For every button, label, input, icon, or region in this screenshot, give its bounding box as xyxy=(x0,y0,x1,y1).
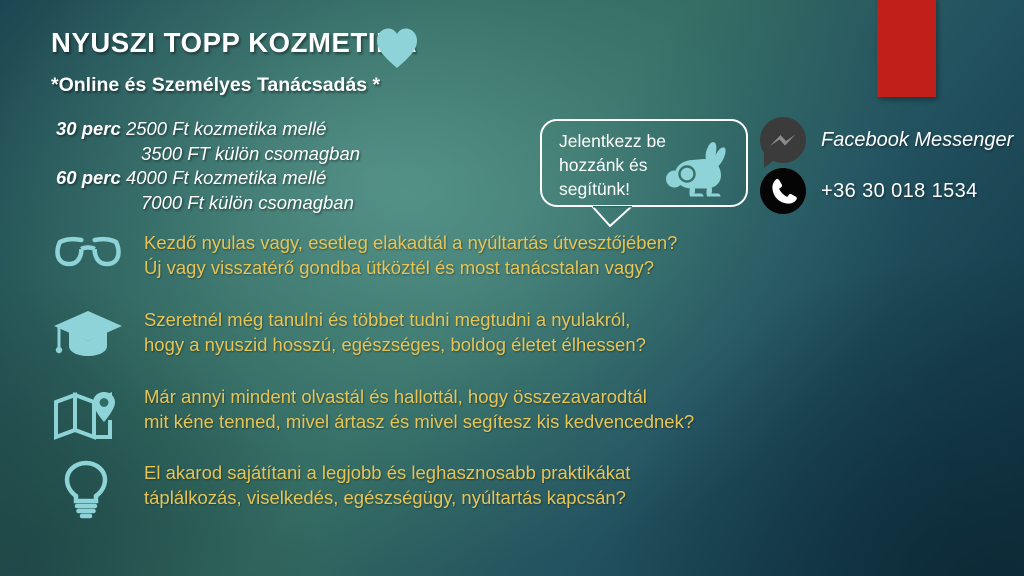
callout-tail xyxy=(592,206,650,228)
list-item-text: El akarod sajátítani a legjobb és leghas… xyxy=(144,460,630,510)
price-duration: 60 perc xyxy=(56,167,121,188)
list-item: El akarod sajátítani a legjobb és leghas… xyxy=(52,458,992,520)
contact-label: +36 30 018 1534 xyxy=(821,180,978,203)
price-list: 30 perc 2500 Ft kozmetika mellé 3500 FT … xyxy=(56,117,360,215)
price-row: 60 perc 4000 Ft kozmetika mellé xyxy=(56,166,360,191)
red-accent-block xyxy=(877,0,936,97)
contact-messenger[interactable]: Facebook Messenger xyxy=(760,117,1013,163)
price-primary: 2500 Ft kozmetika mellé xyxy=(126,118,327,139)
map-pin-icon xyxy=(52,382,124,444)
contact-phone[interactable]: +36 30 018 1534 xyxy=(760,168,978,214)
list-item-line: Új vagy visszatérő gondba ütköztél és mo… xyxy=(144,255,677,280)
callout-line: Jelentkezz be xyxy=(559,129,666,153)
list-item-text: Már annyi mindent olvastál és hallottál,… xyxy=(144,384,694,434)
callout-line: segítünk! xyxy=(559,177,666,201)
callout-text: Jelentkezz be hozzánk és segítünk! xyxy=(559,129,666,201)
price-duration: 30 perc xyxy=(56,118,121,139)
list-item-line: mit kéne tenned, mivel ártasz és mivel s… xyxy=(144,409,694,434)
price-secondary: 3500 FT külön csomagban xyxy=(56,142,360,167)
list-item: Szeretnél még tanulni és többet tudni me… xyxy=(52,305,992,367)
page-title: NYUSZI TOPP KOZMETIKA xyxy=(51,27,417,59)
heart-icon xyxy=(375,26,419,70)
list-item-line: táplálkozás, viselkedés, egészségügy, ny… xyxy=(144,485,630,510)
facebook-messenger-icon[interactable] xyxy=(760,117,806,163)
glasses-icon xyxy=(52,228,124,290)
graduation-cap-icon xyxy=(52,305,124,367)
lightbulb-icon xyxy=(52,458,124,520)
price-row: 30 perc 2500 Ft kozmetika mellé xyxy=(56,117,360,142)
page-subtitle: *Online és Személyes Tanácsadás * xyxy=(51,74,380,97)
rabbit-icon xyxy=(664,141,738,199)
list-item-text: Szeretnél még tanulni és többet tudni me… xyxy=(144,307,646,357)
list-item-line: Már annyi mindent olvastál és hallottál,… xyxy=(144,384,694,409)
callout-bubble: Jelentkezz be hozzánk és segítünk! xyxy=(540,119,748,207)
list-item-line: Szeretnél még tanulni és többet tudni me… xyxy=(144,307,646,332)
list-item-text: Kezdő nyulas vagy, esetleg elakadtál a n… xyxy=(144,230,677,280)
price-primary: 4000 Ft kozmetika mellé xyxy=(126,167,327,188)
list-item: Kezdő nyulas vagy, esetleg elakadtál a n… xyxy=(52,228,992,290)
contact-label: Facebook Messenger xyxy=(821,129,1013,152)
slide-canvas: NYUSZI TOPP KOZMETIKA *Online és Személy… xyxy=(0,0,1024,576)
list-item-line: El akarod sajátítani a legjobb és leghas… xyxy=(144,460,630,485)
callout-line: hozzánk és xyxy=(559,153,666,177)
list-item-line: Kezdő nyulas vagy, esetleg elakadtál a n… xyxy=(144,230,677,255)
list-item-line: hogy a nyuszid hosszú, egészséges, boldo… xyxy=(144,332,646,357)
list-item: Már annyi mindent olvastál és hallottál,… xyxy=(52,382,992,444)
phone-icon[interactable] xyxy=(760,168,806,214)
price-secondary: 7000 Ft külön csomagban xyxy=(56,191,360,216)
